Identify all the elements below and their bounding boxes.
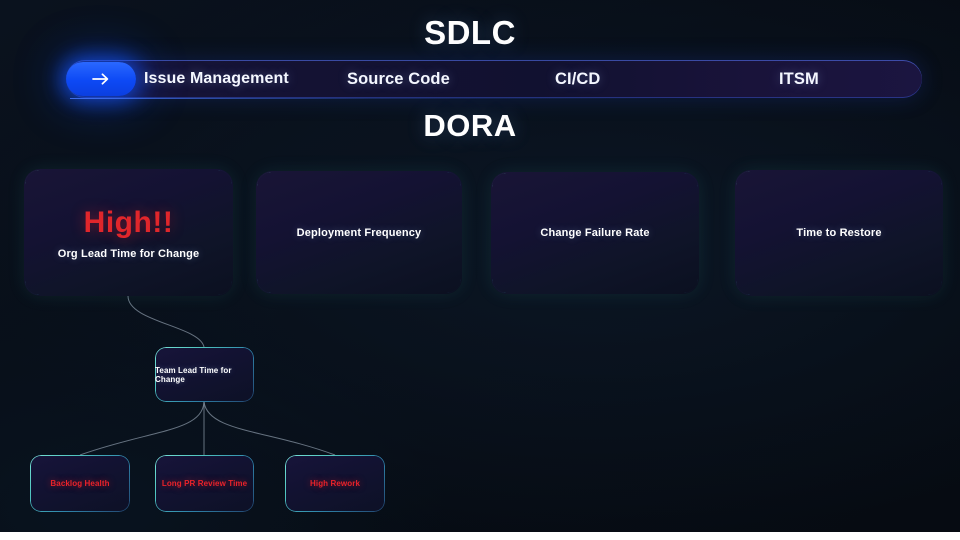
tree-node-backlog-health[interactable]: Backlog Health: [30, 455, 130, 512]
dora-card-label: Time to Restore: [796, 227, 881, 239]
tree-node-label: Backlog Health: [50, 479, 109, 488]
dora-card-label: Change Failure Rate: [540, 227, 649, 239]
nav-item-ci-cd[interactable]: CI/CD: [555, 70, 600, 89]
sdlc-heading: SDLC: [0, 14, 940, 52]
bottom-strip: [0, 532, 960, 540]
tree-node-label: High Rework: [310, 479, 360, 488]
connector-card-to-team: [128, 296, 204, 347]
sdlc-nav-bar[interactable]: Issue Management Source Code CI/CD ITSM: [66, 60, 922, 98]
dora-card-change-failure-rate[interactable]: Change Failure Rate: [491, 172, 699, 294]
nav-underline: [70, 98, 670, 99]
tree-node-label: Long PR Review Time: [162, 479, 247, 488]
dora-card-label: Deployment Frequency: [297, 227, 422, 239]
connector-team-to-child-2: [204, 402, 335, 455]
nav-advance-button[interactable]: [66, 62, 136, 96]
tree-node-long-pr-review-time[interactable]: Long PR Review Time: [155, 455, 254, 512]
nav-item-itsm[interactable]: ITSM: [779, 70, 819, 89]
dora-card-value: High!!: [84, 206, 174, 240]
dora-card-org-lead-time[interactable]: High!! Org Lead Time for Change: [24, 169, 233, 296]
dora-card-label: Org Lead Time for Change: [58, 248, 200, 260]
connector-team-to-child-0: [80, 402, 204, 455]
tree-node-label: Team Lead Time for Change: [155, 366, 254, 384]
nav-item-source-code[interactable]: Source Code: [347, 70, 450, 89]
arrow-right-icon: [91, 72, 111, 86]
nav-item-issue-management[interactable]: Issue Management: [144, 70, 289, 88]
tree-node-high-rework[interactable]: High Rework: [285, 455, 385, 512]
dora-card-time-to-restore[interactable]: Time to Restore: [735, 170, 943, 296]
tree-node-team-lead-time[interactable]: Team Lead Time for Change: [155, 347, 254, 402]
dora-heading: DORA: [0, 108, 940, 144]
dora-card-deployment-frequency[interactable]: Deployment Frequency: [256, 171, 462, 294]
slide-canvas: SDLC DORA Issue Management Source Code C…: [0, 0, 960, 532]
